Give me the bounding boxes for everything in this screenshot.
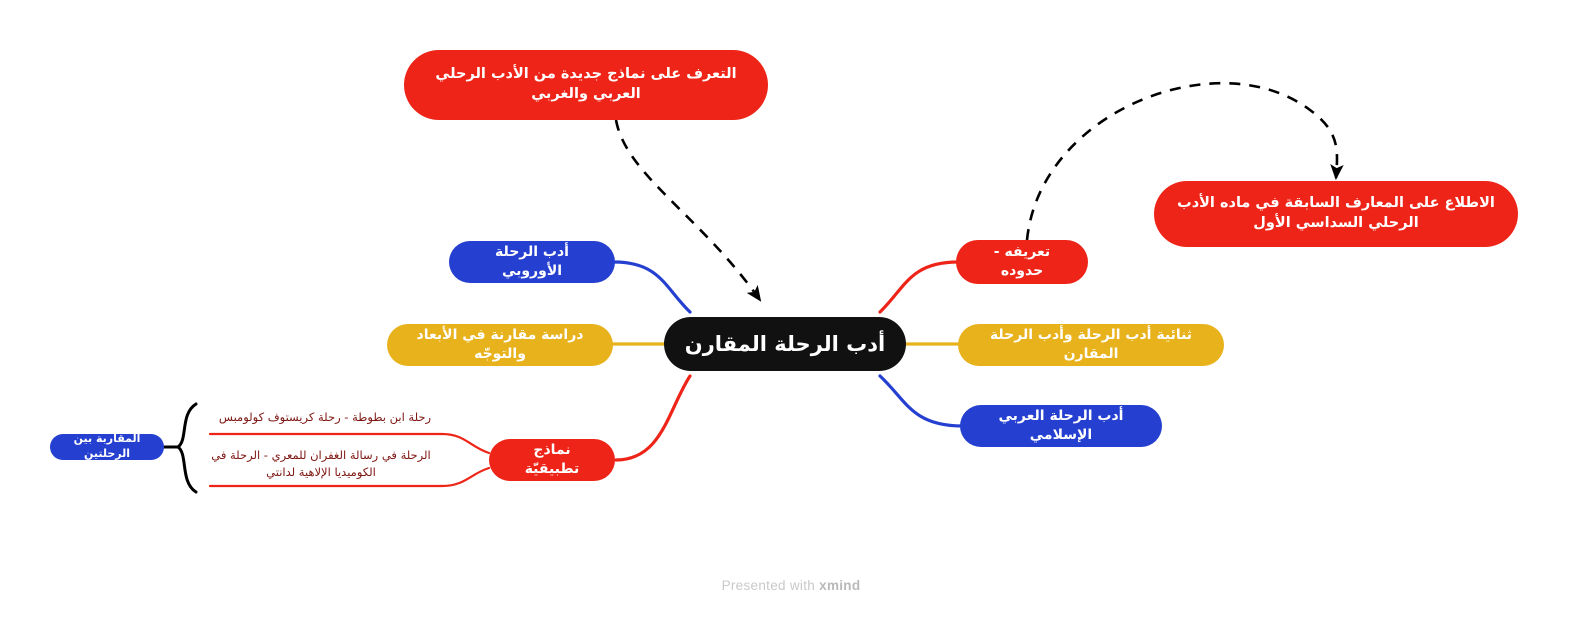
branch-comparative-study[interactable]: دراسة مقارنة في الأبعاد والتوجّه [387, 324, 613, 366]
leaf-ibn-battuta[interactable]: رحلة ابن بطوطة - رحلة كريستوف كولومبس [210, 409, 440, 426]
wire-to-european [614, 262, 690, 312]
node-comparison-between-journeys[interactable]: المقاربة بين الرحلتين [50, 434, 164, 460]
leaf-risalat-alghufran[interactable]: الرحلة في رسالة الغفران للمعري - الرحلة … [210, 447, 432, 482]
branch-duality[interactable]: ثنائية أدب الرحلة وأدب الرحلة المقارن [958, 324, 1224, 366]
connector-layer [0, 0, 1582, 618]
wire-to-applied-models [616, 376, 690, 460]
footer-watermark: Presented with xmind [0, 578, 1582, 593]
dashed-arrow-new-models-to-central [616, 120, 760, 300]
footer-prefix: Presented with [722, 578, 820, 593]
mindmap-canvas: أدب الرحلة المقارن التعرف على نماذج جديد… [0, 0, 1582, 618]
branch-applied-models[interactable]: نماذج تطبيقيّة [489, 439, 615, 481]
branch-definition[interactable]: تعريفه - حدوده [956, 240, 1088, 284]
branch-arab-islamic[interactable]: أدب الرحلة العربي الإسلامي [960, 405, 1162, 447]
callout-new-models[interactable]: التعرف على نماذج جديدة من الأدب الرحلي ا… [404, 50, 768, 120]
bracket-icon [178, 404, 196, 492]
callout-prior-knowledge[interactable]: الاطلاع على المعارف السابقة في ماده الأد… [1154, 181, 1518, 247]
central-node[interactable]: أدب الرحلة المقارن [664, 317, 906, 371]
branch-european[interactable]: أدب الرحلة الأوروبي [449, 241, 615, 283]
wire-to-arab-islamic [880, 376, 962, 426]
footer-brand: xmind [819, 578, 860, 593]
wire-to-definition [880, 262, 958, 312]
